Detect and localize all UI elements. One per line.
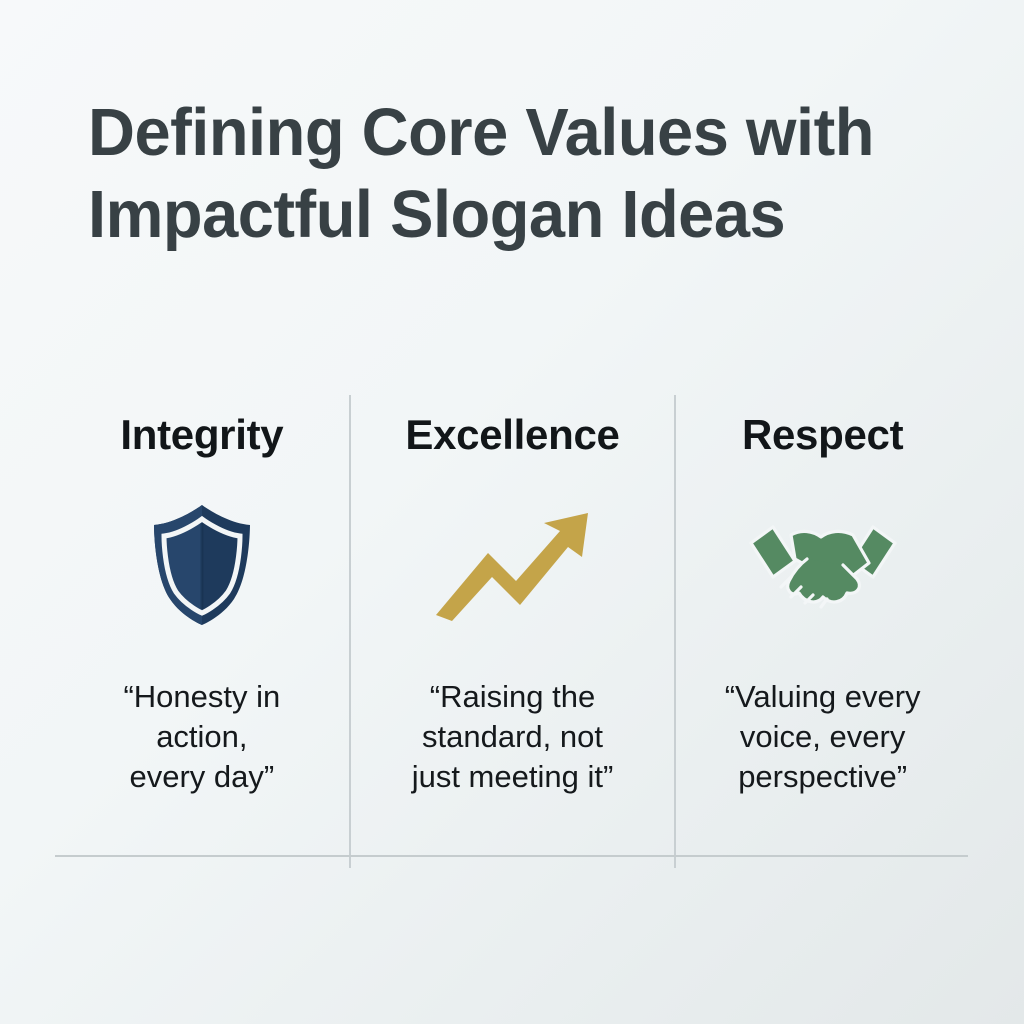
bottom-divider [55, 855, 968, 857]
growth-arrow-icon [432, 505, 592, 625]
value-card-integrity: Integrity “Honesty in action, every day” [55, 395, 349, 860]
core-values-columns: Integrity “Honesty in action, every day”… [55, 395, 969, 860]
value-heading-integrity: Integrity [120, 411, 283, 459]
value-card-excellence: Excellence “Raising the standard, not ju… [351, 395, 675, 860]
value-quote-excellence: “Raising the standard, not just meeting … [387, 677, 637, 797]
page-title: Defining Core Values with Impactful Slog… [88, 92, 948, 256]
value-quote-integrity: “Honesty in action, every day” [94, 677, 309, 797]
title-line-1: Defining Core Values with [88, 92, 922, 174]
value-heading-respect: Respect [742, 411, 903, 459]
infographic-canvas: Defining Core Values with Impactful Slog… [0, 0, 1024, 1024]
shield-icon [150, 505, 254, 625]
value-quote-respect: “Valuing every voice, every perspective” [707, 677, 939, 797]
handshake-icon [747, 505, 899, 625]
value-card-respect: Respect “Valuing every voice, every [676, 395, 969, 860]
title-line-2: Impactful Slogan Ideas [88, 174, 922, 256]
value-heading-excellence: Excellence [405, 411, 619, 459]
